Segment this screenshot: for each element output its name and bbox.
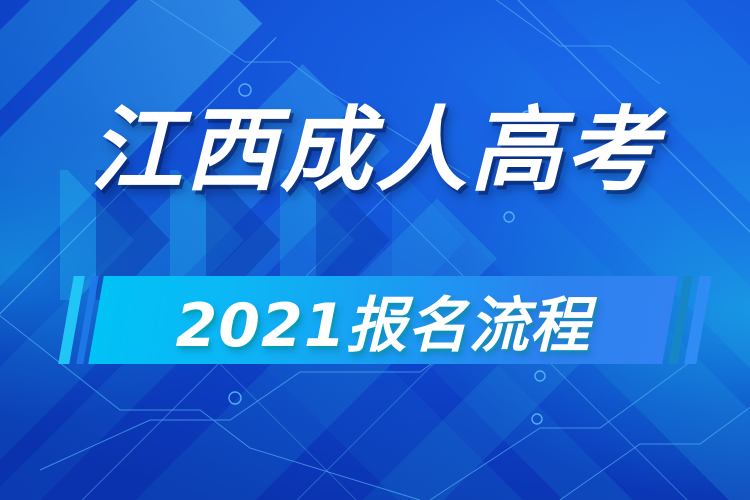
page-title: 江西成人高考	[90, 104, 660, 198]
subtitle-banner-container: 2021报名流程	[0, 274, 750, 368]
poster-canvas: 江西成人高考 2021报名流程	[0, 0, 750, 500]
page-subtitle: 2021报名流程	[176, 277, 591, 364]
main-title-container: 江西成人高考	[0, 104, 750, 198]
subtitle-text-container: 2021报名流程	[96, 276, 670, 364]
